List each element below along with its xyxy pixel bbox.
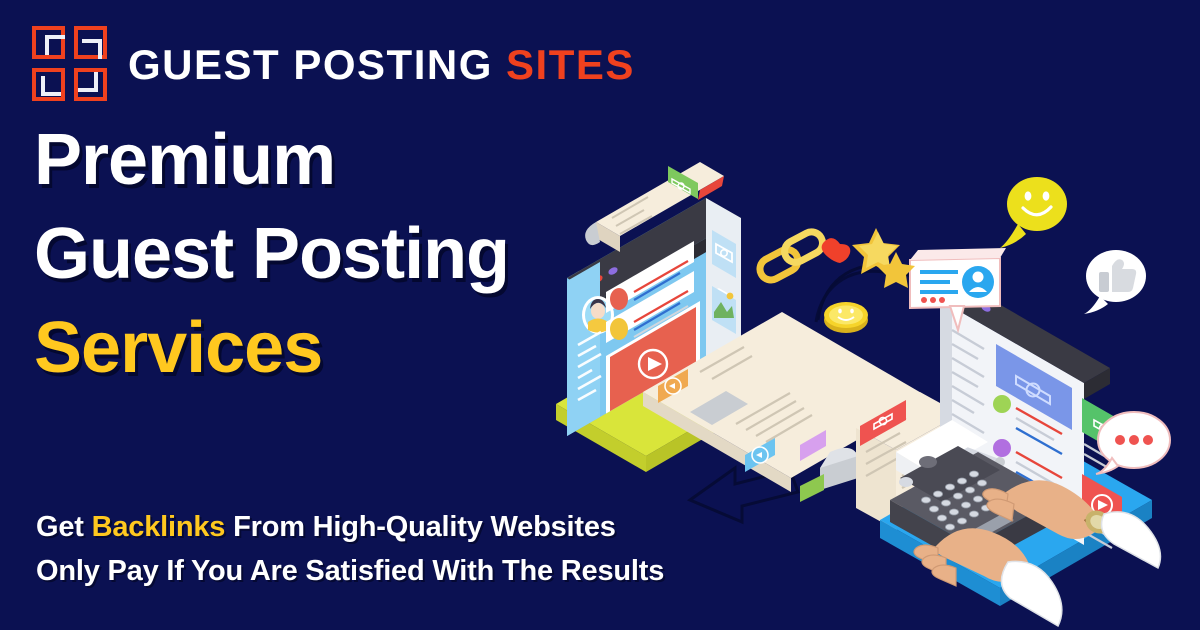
tagline-line-2: Only Pay If You Are Satisfied With The R… (36, 549, 716, 593)
brand-name: GUEST POSTING SITES (128, 44, 635, 86)
page-title: Premium Guest Posting Services (34, 124, 594, 406)
headline-line-3: Services (34, 312, 594, 384)
smiley-speech-bubble-icon (1000, 177, 1067, 248)
heart-icon (822, 238, 851, 263)
headline-line-2: Guest Posting (34, 218, 594, 290)
promo-banner: GUEST POSTING SITES Premium Guest Postin… (0, 0, 1200, 630)
brand-logo[interactable]: GUEST POSTING SITES (32, 26, 635, 104)
chat-dots-bubble-icon (1096, 412, 1170, 474)
brand-name-primary: GUEST POSTING (128, 41, 493, 88)
tagline-post: From High-Quality Websites (225, 511, 615, 543)
brand-name-secondary: SITES (506, 41, 635, 88)
thumbs-up-bubble-icon (1084, 250, 1146, 314)
tagline-pre: Get (36, 511, 92, 543)
headline-line-1: Premium (34, 124, 594, 196)
four-squares-interlock-icon (32, 26, 110, 104)
chain-link-icon (754, 228, 828, 284)
tagline-line-1: Get Backlinks From High-Quality Websites (36, 505, 716, 549)
smiley-coin-icon (824, 302, 868, 333)
tagline-accent: Backlinks (92, 511, 226, 543)
tagline: Get Backlinks From High-Quality Websites… (36, 505, 716, 593)
